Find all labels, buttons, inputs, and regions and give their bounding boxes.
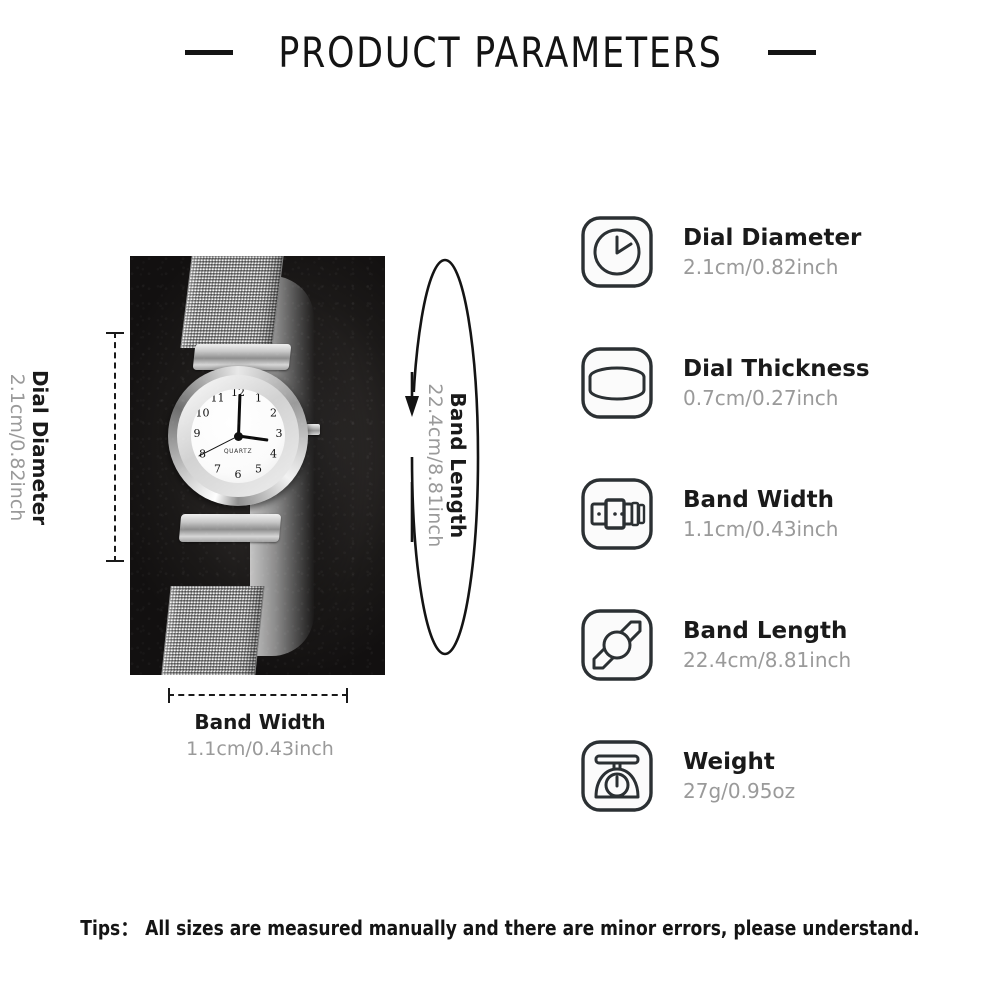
dial-numeral: 8	[195, 449, 211, 460]
spec-label: Weight	[683, 751, 795, 774]
dimension-value-dial-diameter: 2.1cm/0.82inch	[6, 340, 28, 555]
watch-bezel: 12 1 2 3 4 5 6 7 8 9 10 11 QUARTZ	[177, 375, 299, 497]
dimension-cap-right-icon	[346, 688, 348, 703]
spec-row-dial-diameter: Dial Diameter 2.1cm/0.82inch	[575, 186, 975, 317]
hand-center-cap	[234, 432, 243, 441]
band-clasp-bottom	[179, 514, 281, 542]
dimension-cap-bottom-icon	[106, 560, 124, 562]
dial-numeral: 6	[230, 469, 246, 480]
spec-value: 27g/0.95oz	[683, 781, 795, 801]
spec-list: Dial Diameter 2.1cm/0.82inch Dial Thickn…	[575, 186, 975, 841]
dimension-label-band-width: Band Width	[120, 710, 400, 734]
watch-shadow	[248, 292, 368, 642]
dimension-marker-dial-diameter	[100, 332, 130, 562]
spec-label: Dial Thickness	[683, 358, 870, 381]
dial-numeral: 12	[230, 389, 246, 398]
spec-label: Dial Diameter	[683, 227, 861, 250]
bracelet-rim	[250, 276, 314, 656]
watch-case: 12 1 2 3 4 5 6 7 8 9 10 11 QUARTZ	[168, 366, 308, 506]
dial-numeral: 11	[210, 393, 226, 404]
spec-row-band-length: Band Length 22.4cm/8.81inch	[575, 579, 975, 710]
dimension-value-band-width: 1.1cm/0.43inch	[120, 738, 400, 760]
watch-diagonal-icon	[575, 603, 659, 687]
dimension-dashed-line-icon	[114, 332, 116, 562]
spec-label: Band Width	[683, 489, 838, 512]
dimension-label-band-length: Band Length	[446, 358, 470, 573]
dimension-value-band-length: 22.4cm/8.81inch	[424, 358, 446, 573]
page-title: PRODUCT PARAMETERS	[278, 28, 722, 77]
dial-numeral: 5	[251, 464, 267, 475]
title-dash-right-icon	[768, 50, 816, 55]
belt-buckle-icon	[575, 472, 659, 556]
hour-hand	[238, 435, 268, 442]
kitchen-scale-icon	[575, 734, 659, 818]
dimension-marker-band-width	[168, 688, 348, 702]
cylinder-disc-icon	[575, 341, 659, 425]
spec-row-weight: Weight 27g/0.95oz	[575, 710, 975, 841]
spec-label: Band Length	[683, 620, 851, 643]
dial-numeral: 2	[266, 408, 282, 419]
dial-numeral: 9	[191, 428, 205, 439]
band-clasp-top	[193, 344, 292, 370]
dial-numeral: 3	[271, 428, 285, 439]
title-dash-left-icon	[185, 50, 233, 55]
clock-dial-icon	[575, 210, 659, 294]
spec-value: 22.4cm/8.81inch	[683, 650, 851, 670]
spec-row-dial-thickness: Dial Thickness 0.7cm/0.27inch	[575, 317, 975, 448]
dial-brand-text: QUARTZ	[191, 448, 285, 455]
dial-numeral: 7	[210, 464, 226, 475]
dial-numeral: 1	[251, 393, 267, 404]
product-photo: 12 1 2 3 4 5 6 7 8 9 10 11 QUARTZ	[130, 256, 385, 675]
spec-row-band-width: Band Width 1.1cm/0.43inch	[575, 448, 975, 579]
watch-dial: 12 1 2 3 4 5 6 7 8 9 10 11 QUARTZ	[191, 389, 285, 483]
page-header: PRODUCT PARAMETERS	[0, 22, 1000, 82]
dimension-dashed-line-icon	[168, 694, 348, 696]
mesh-band-top	[180, 256, 283, 348]
spec-value: 1.1cm/0.43inch	[683, 519, 838, 539]
minute-hand	[237, 394, 241, 436]
spec-value: 0.7cm/0.27inch	[683, 388, 870, 408]
spec-value: 2.1cm/0.82inch	[683, 257, 861, 277]
dial-numeral: 10	[195, 408, 211, 419]
mesh-band-bottom	[161, 586, 264, 675]
second-hand	[198, 435, 238, 456]
tips-note: Tips： All sizes are measured manually an…	[25, 912, 975, 941]
watch-crown	[306, 424, 320, 435]
dimension-label-dial-diameter: Dial Diameter	[28, 340, 52, 555]
dial-numeral: 4	[266, 449, 282, 460]
